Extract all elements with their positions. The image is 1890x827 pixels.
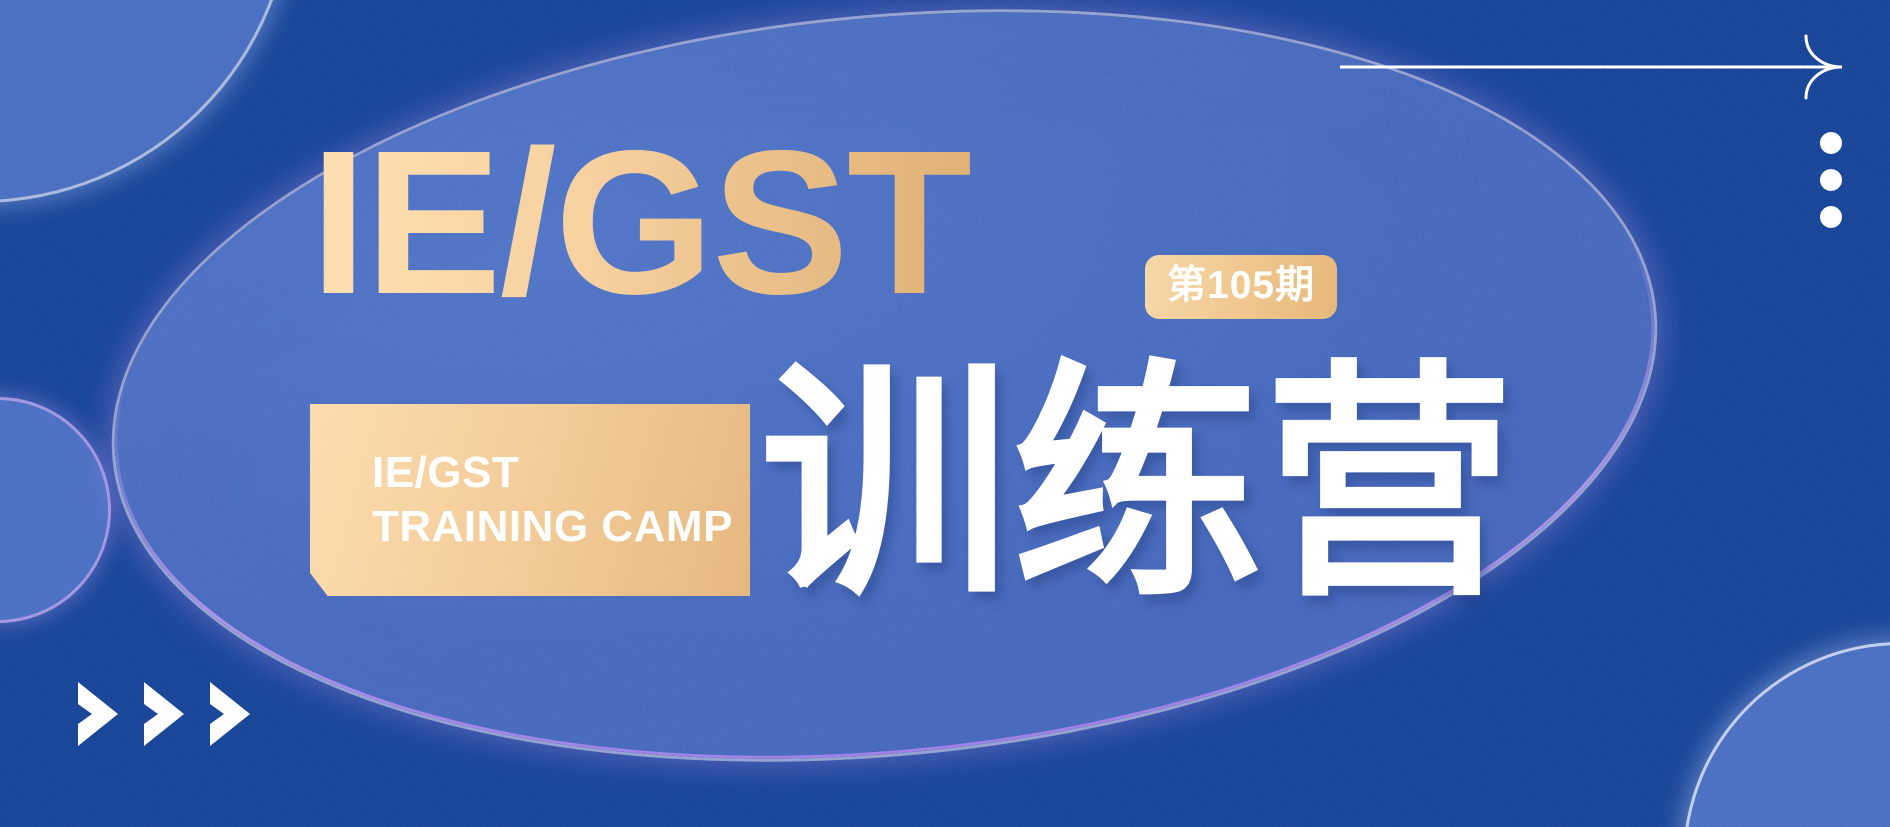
promo-banner: IE/GST 第105期 IE/GST TRAINING CAMP 训练营 [0,0,1890,827]
triple-chevron-right-icon [72,676,260,752]
long-arrow-right-icon [1340,30,1870,105]
camp-box-line-1: IE/GST [372,446,750,500]
decorative-circle-left [0,400,108,620]
dot [1820,206,1842,228]
dot [1820,169,1842,191]
camp-box-line-2: TRAINING CAMP [372,500,750,554]
chinese-title: 训练营 [760,360,1516,610]
chevron-right-icon [138,676,194,752]
chevron-right-icon [72,676,128,752]
edition-badge: 第105期 [1145,255,1337,319]
dot [1820,132,1842,154]
decorative-circle-bottom-right [1686,645,1890,827]
decorative-circle-top-left [0,0,290,200]
chevron-right-icon [204,676,260,752]
three-dots-icon [1820,132,1842,243]
training-camp-box: IE/GST TRAINING CAMP [310,404,750,596]
headline-ie-gst: IE/GST [310,120,970,325]
